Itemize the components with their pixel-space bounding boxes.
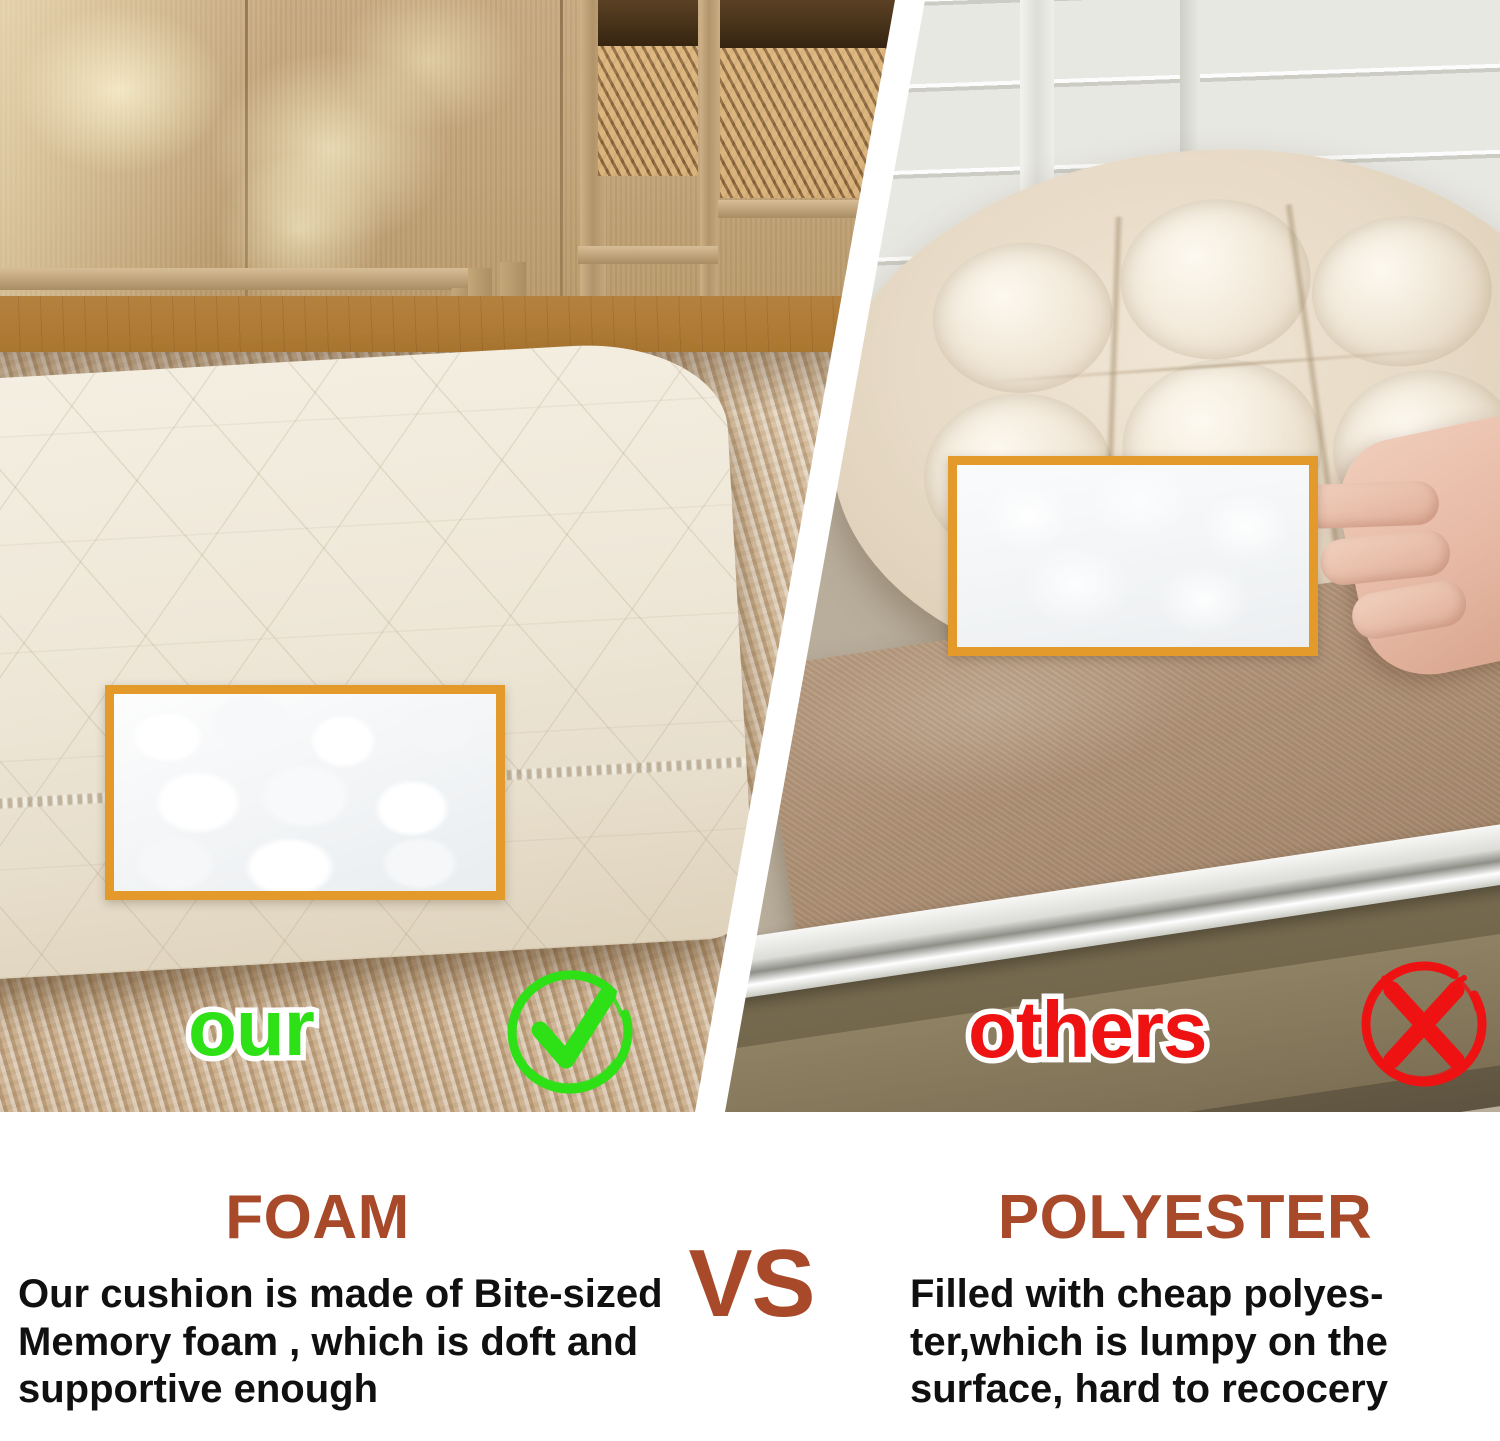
cabinet-opening: [720, 0, 900, 52]
finger: [1349, 577, 1470, 642]
photo-comparison-strip: our others: [0, 0, 1500, 1112]
foam-fill-inset: [105, 685, 505, 900]
our-label: our: [188, 988, 314, 1068]
foam-chunks-image: [114, 694, 496, 891]
product-comparison-graphic: our others FOAM Our: [0, 0, 1500, 1441]
red-x-circle-icon: [1352, 958, 1496, 1090]
foam-heading: FOAM: [0, 1187, 690, 1249]
cabinet-seam: [560, 0, 563, 305]
woven-basket: [598, 46, 698, 176]
cabinet-seam: [245, 0, 248, 300]
cushion-tuft: [1307, 210, 1497, 372]
polyester-heading: POLYESTER: [870, 1187, 1500, 1249]
vs-separator: VS: [679, 1236, 824, 1332]
cabinet-opening: [598, 0, 698, 50]
polyester-column: POLYESTER Filled with cheap polyes-ter,w…: [810, 1112, 1500, 1414]
polyester-fiber-image: [957, 465, 1309, 647]
finger: [1298, 480, 1439, 529]
foam-column: FOAM Our cushion is made of Bite-sized M…: [0, 1112, 690, 1414]
cabinet-rail: [0, 268, 470, 290]
polyester-fill-inset: [948, 456, 1318, 656]
polyester-description: Filled with cheap polyes-ter,which is lu…: [910, 1271, 1500, 1414]
cabinet-rail: [578, 246, 718, 264]
foam-description: Our cushion is made of Bite-sized Memory…: [18, 1271, 678, 1414]
green-check-circle-icon: [496, 968, 646, 1098]
others-label: others: [968, 990, 1207, 1070]
